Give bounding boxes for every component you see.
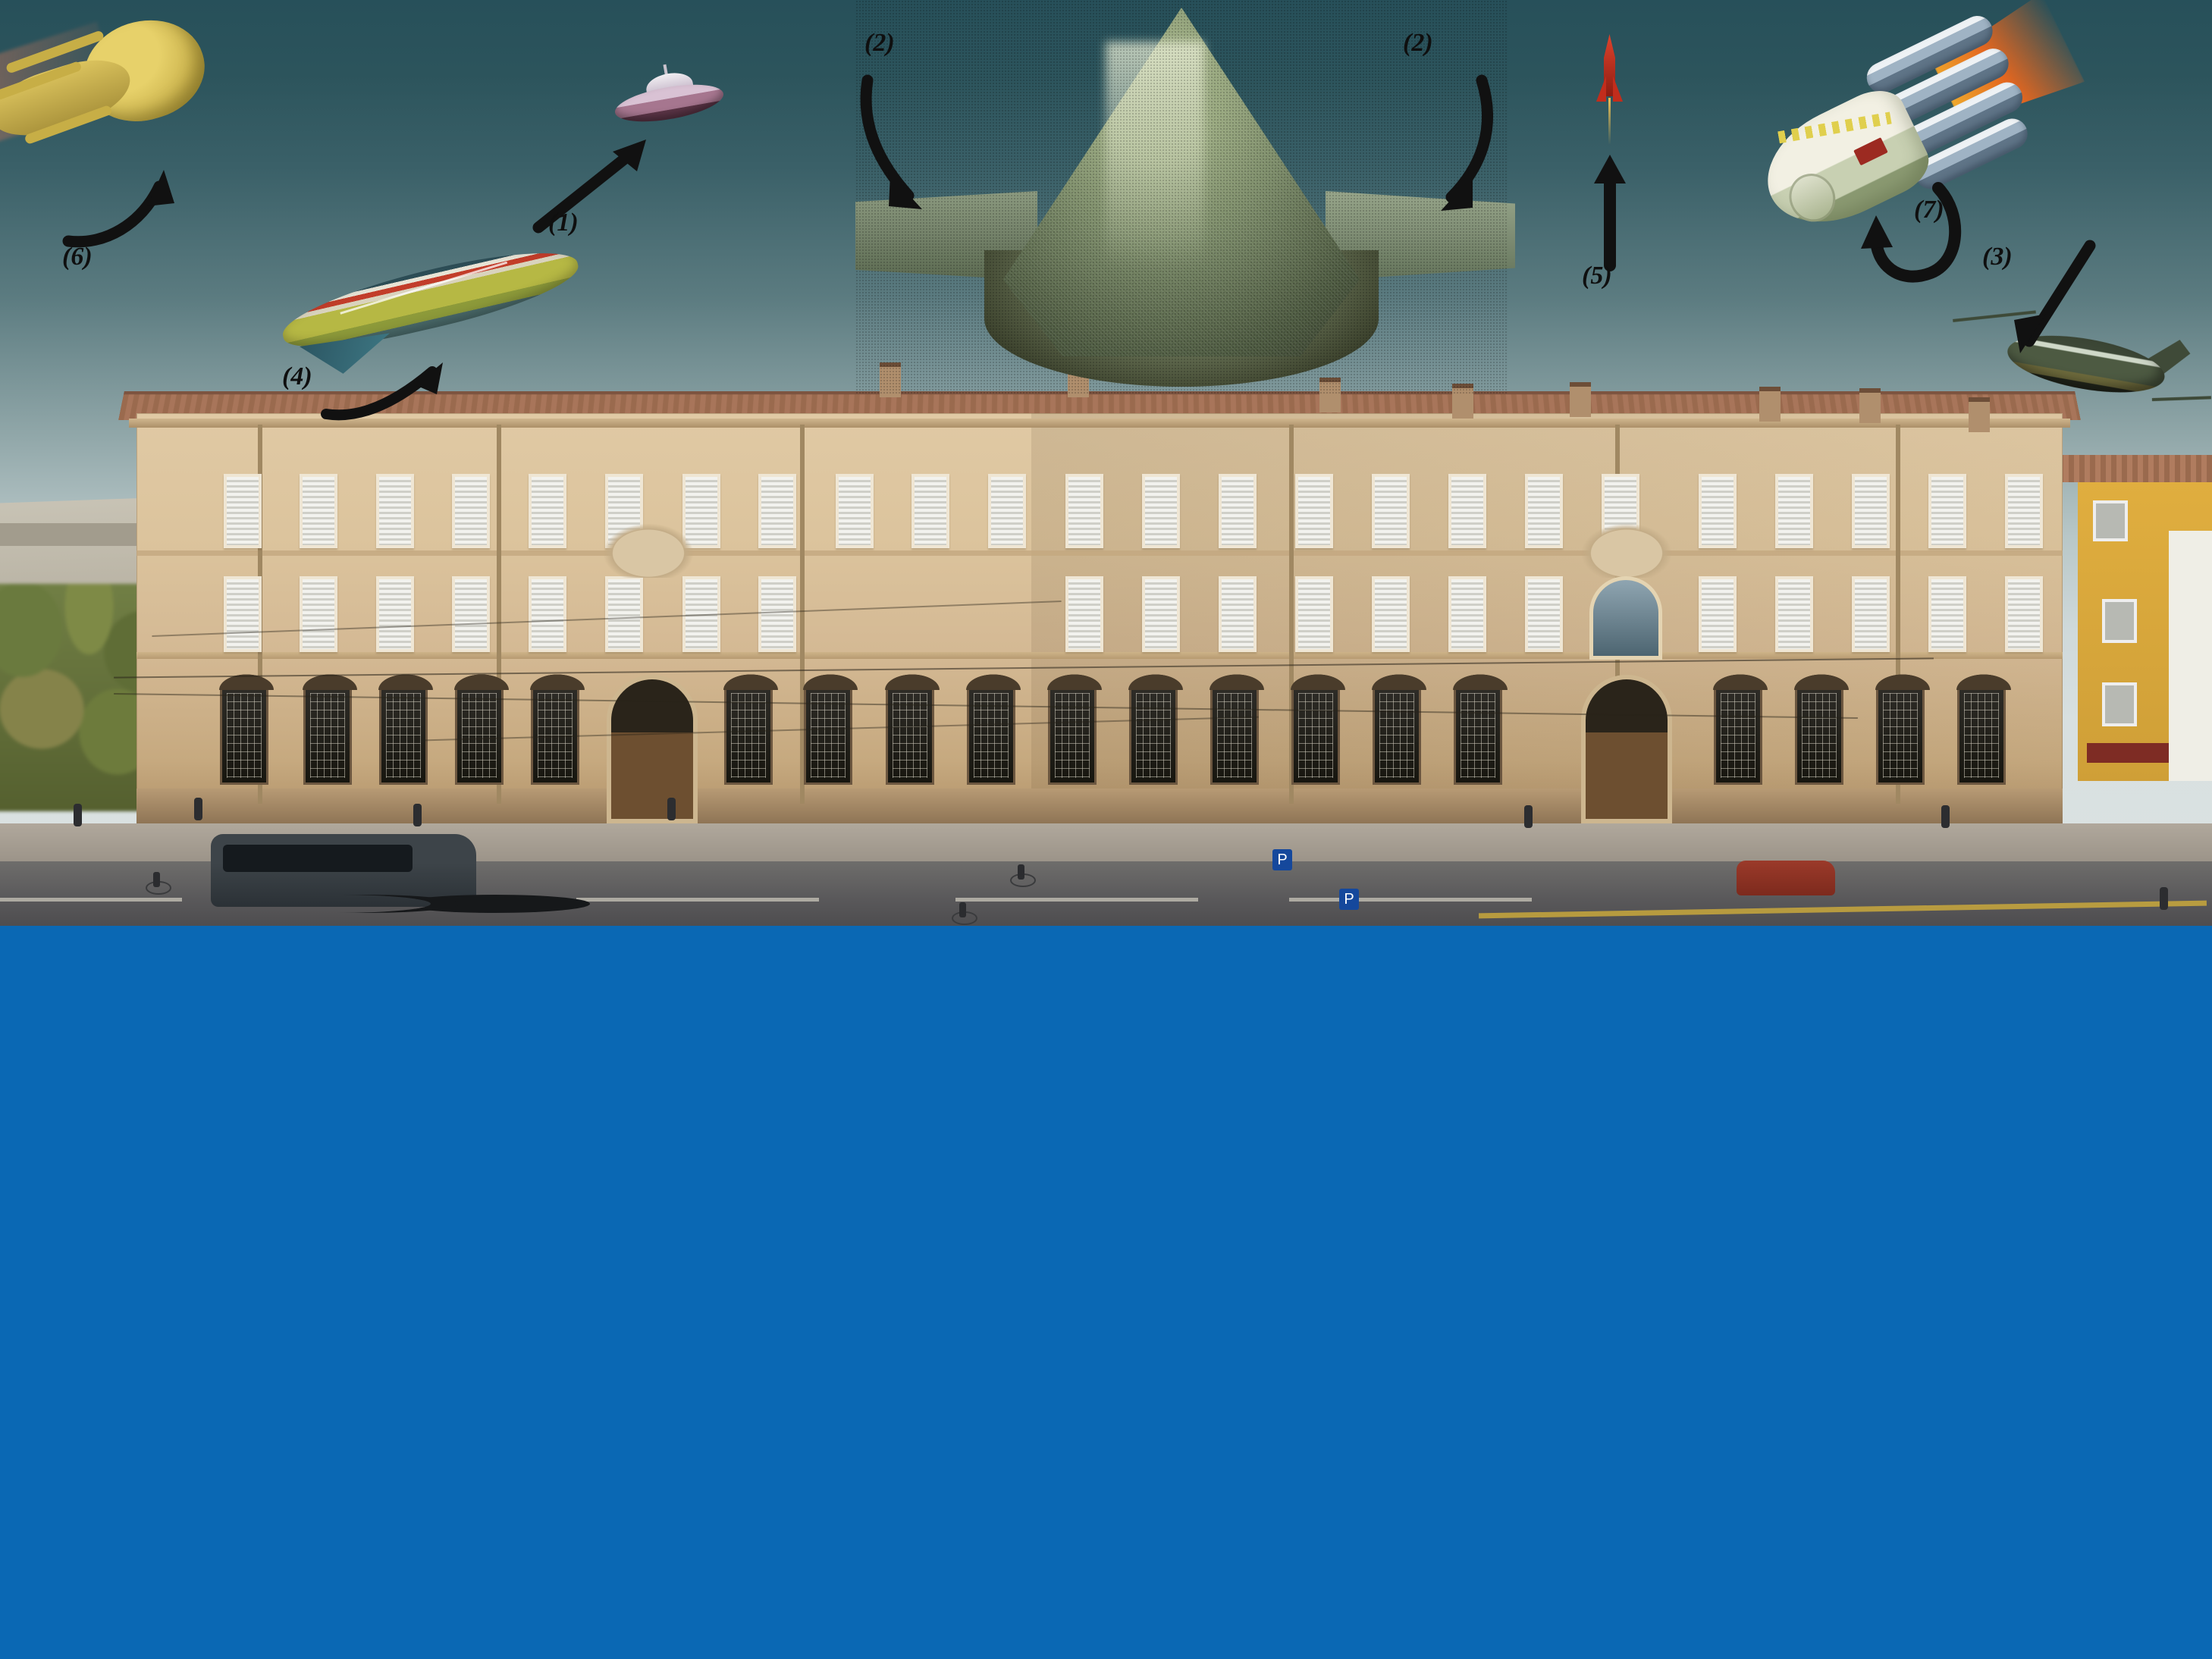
facade-window-top (1928, 474, 1966, 548)
facade-window-top (2005, 474, 2043, 548)
facade-window-mid (1295, 576, 1333, 652)
annotation-label-3: (3) (1982, 243, 2013, 271)
annotation-arrow-7 (1849, 176, 1978, 297)
red-rocket-object (1597, 34, 1621, 148)
white-building (2169, 531, 2212, 781)
facade-window-top (1372, 474, 1410, 548)
photo-collage: P P (0, 0, 2212, 926)
facade-window-top (300, 474, 337, 548)
facade-window-ground (220, 686, 268, 785)
zeppelin-mast-rear (2152, 396, 2211, 401)
annotation-arrow-2-right (1394, 68, 1515, 220)
facade-window-top (1295, 474, 1333, 548)
cyclist (1010, 864, 1036, 887)
cyclist (952, 902, 977, 925)
facade-window-top (758, 474, 796, 548)
facade-window-top (529, 474, 566, 548)
yellow-building-window (2102, 682, 2137, 726)
entrance-portal-right (1581, 675, 1672, 823)
facade-window-ground (455, 686, 504, 785)
facade-window-mid (1928, 576, 1966, 652)
facade-window-top (1448, 474, 1486, 548)
entrance-portal-left (607, 675, 698, 823)
facade-window-mid (452, 576, 490, 652)
annotation-label-1: (1) (548, 209, 579, 237)
facade-window-mid (1852, 576, 1890, 652)
facade-window-mid (529, 576, 566, 652)
facade-window-top (1775, 474, 1813, 548)
pedestrian (74, 804, 82, 826)
facade-string-course-upper (136, 550, 2063, 556)
facade-string-course-lower (136, 652, 2063, 659)
chimney (1759, 387, 1781, 422)
annotation-label-5: (5) (1582, 262, 1612, 290)
facade-window-ground (967, 686, 1015, 785)
annotation-arrow-6 (59, 152, 226, 250)
arched-window-right (1589, 576, 1662, 660)
exhibition-poster: P P (0, 0, 2212, 1659)
facade-window-mid (2005, 576, 2043, 652)
facade-window-top (452, 474, 490, 548)
annotation-label-6: (6) (62, 243, 93, 271)
facade-window-top (1065, 474, 1103, 548)
facade-window-ground (1957, 686, 2006, 785)
facade-window-mid (1065, 576, 1103, 652)
info-panel: Francesco Jodice Come and See a cura di … (0, 926, 2212, 1659)
facade-window-ground (1454, 686, 1502, 785)
yellow-building-window (2102, 599, 2137, 643)
annotation-arrow-2-left (857, 68, 978, 220)
facade-window-ground (303, 686, 352, 785)
facade-window-top (988, 474, 1026, 548)
facade-window-top (224, 474, 262, 548)
facade-window-mid (1775, 576, 1813, 652)
annotation-arrow-3 (2002, 235, 2108, 364)
parking-sign-icon: P (1339, 889, 1359, 910)
pedestrian (413, 804, 422, 826)
facade-window-top (836, 474, 874, 548)
rocket-fin-right (1613, 76, 1623, 102)
pedestrian (1941, 805, 1950, 828)
facade-window-ground (1129, 686, 1178, 785)
palazzo-roof-right (2047, 455, 2212, 482)
facade-window-mid (605, 576, 643, 652)
facade-window-top (1525, 474, 1563, 548)
chimney (1570, 382, 1591, 417)
capsule-highlight (1106, 42, 1204, 269)
facade-window-mid (1219, 576, 1257, 652)
pedestrian (667, 798, 676, 820)
road-marking (1289, 898, 1532, 902)
chimney (1859, 388, 1881, 423)
pedestrian (194, 798, 202, 820)
flying-saucer-object (614, 64, 724, 124)
facade-window-top (1852, 474, 1890, 548)
pedestrian (1524, 805, 1533, 828)
facade-window-mid (300, 576, 337, 652)
annotation-label-2-right: (2) (1403, 29, 1433, 58)
rocket-fin-left (1596, 76, 1606, 102)
facade-window-mid (1448, 576, 1486, 652)
parked-van (211, 834, 476, 907)
portal-crest-right (1581, 523, 1672, 578)
facade-window-ground (886, 686, 934, 785)
facade-window-mid (758, 576, 796, 652)
facade-window-ground (1714, 686, 1762, 785)
annotation-arrow-4 (318, 341, 470, 425)
facade-window-top (1142, 474, 1180, 548)
facade-window-top (1219, 474, 1257, 548)
yellow-airship-object (0, 8, 227, 167)
facade-window-ground (379, 686, 428, 785)
cyclist (146, 872, 171, 895)
facade-window-mid (1699, 576, 1737, 652)
portal-crest-left (603, 523, 694, 578)
facade-window-ground (1876, 686, 1925, 785)
facade-window-mid (1142, 576, 1180, 652)
facade-window-mid (1372, 576, 1410, 652)
annotation-label-7: (7) (1914, 196, 1944, 224)
facade-window-ground (1373, 686, 1421, 785)
parking-sign-icon: P (1272, 849, 1292, 870)
facade-window-top (911, 474, 949, 548)
road-marking (955, 898, 1198, 902)
annotation-arrow-5 (1585, 150, 1638, 271)
facade-window-ground (1048, 686, 1097, 785)
yellow-building-window (2093, 500, 2128, 541)
rocket-exhaust (1608, 98, 1611, 145)
pedestrian (2160, 887, 2168, 910)
facade-window-mid (224, 576, 262, 652)
facade-window-ground (1210, 686, 1259, 785)
road-marking (576, 898, 819, 902)
annotation-label-2-left: (2) (864, 29, 895, 58)
facade-window-mid (376, 576, 414, 652)
facade-window-ground (804, 686, 852, 785)
facade-window-ground (1795, 686, 1843, 785)
facade-window-mid (1525, 576, 1563, 652)
facade-plinth (136, 789, 2063, 825)
facade-window-top (376, 474, 414, 548)
parked-car (1737, 861, 1835, 895)
road-marking (0, 898, 182, 902)
facade-window-top (1699, 474, 1737, 548)
facade-window-ground (1291, 686, 1340, 785)
chimney (1969, 397, 1990, 432)
annotation-label-4: (4) (282, 362, 312, 391)
